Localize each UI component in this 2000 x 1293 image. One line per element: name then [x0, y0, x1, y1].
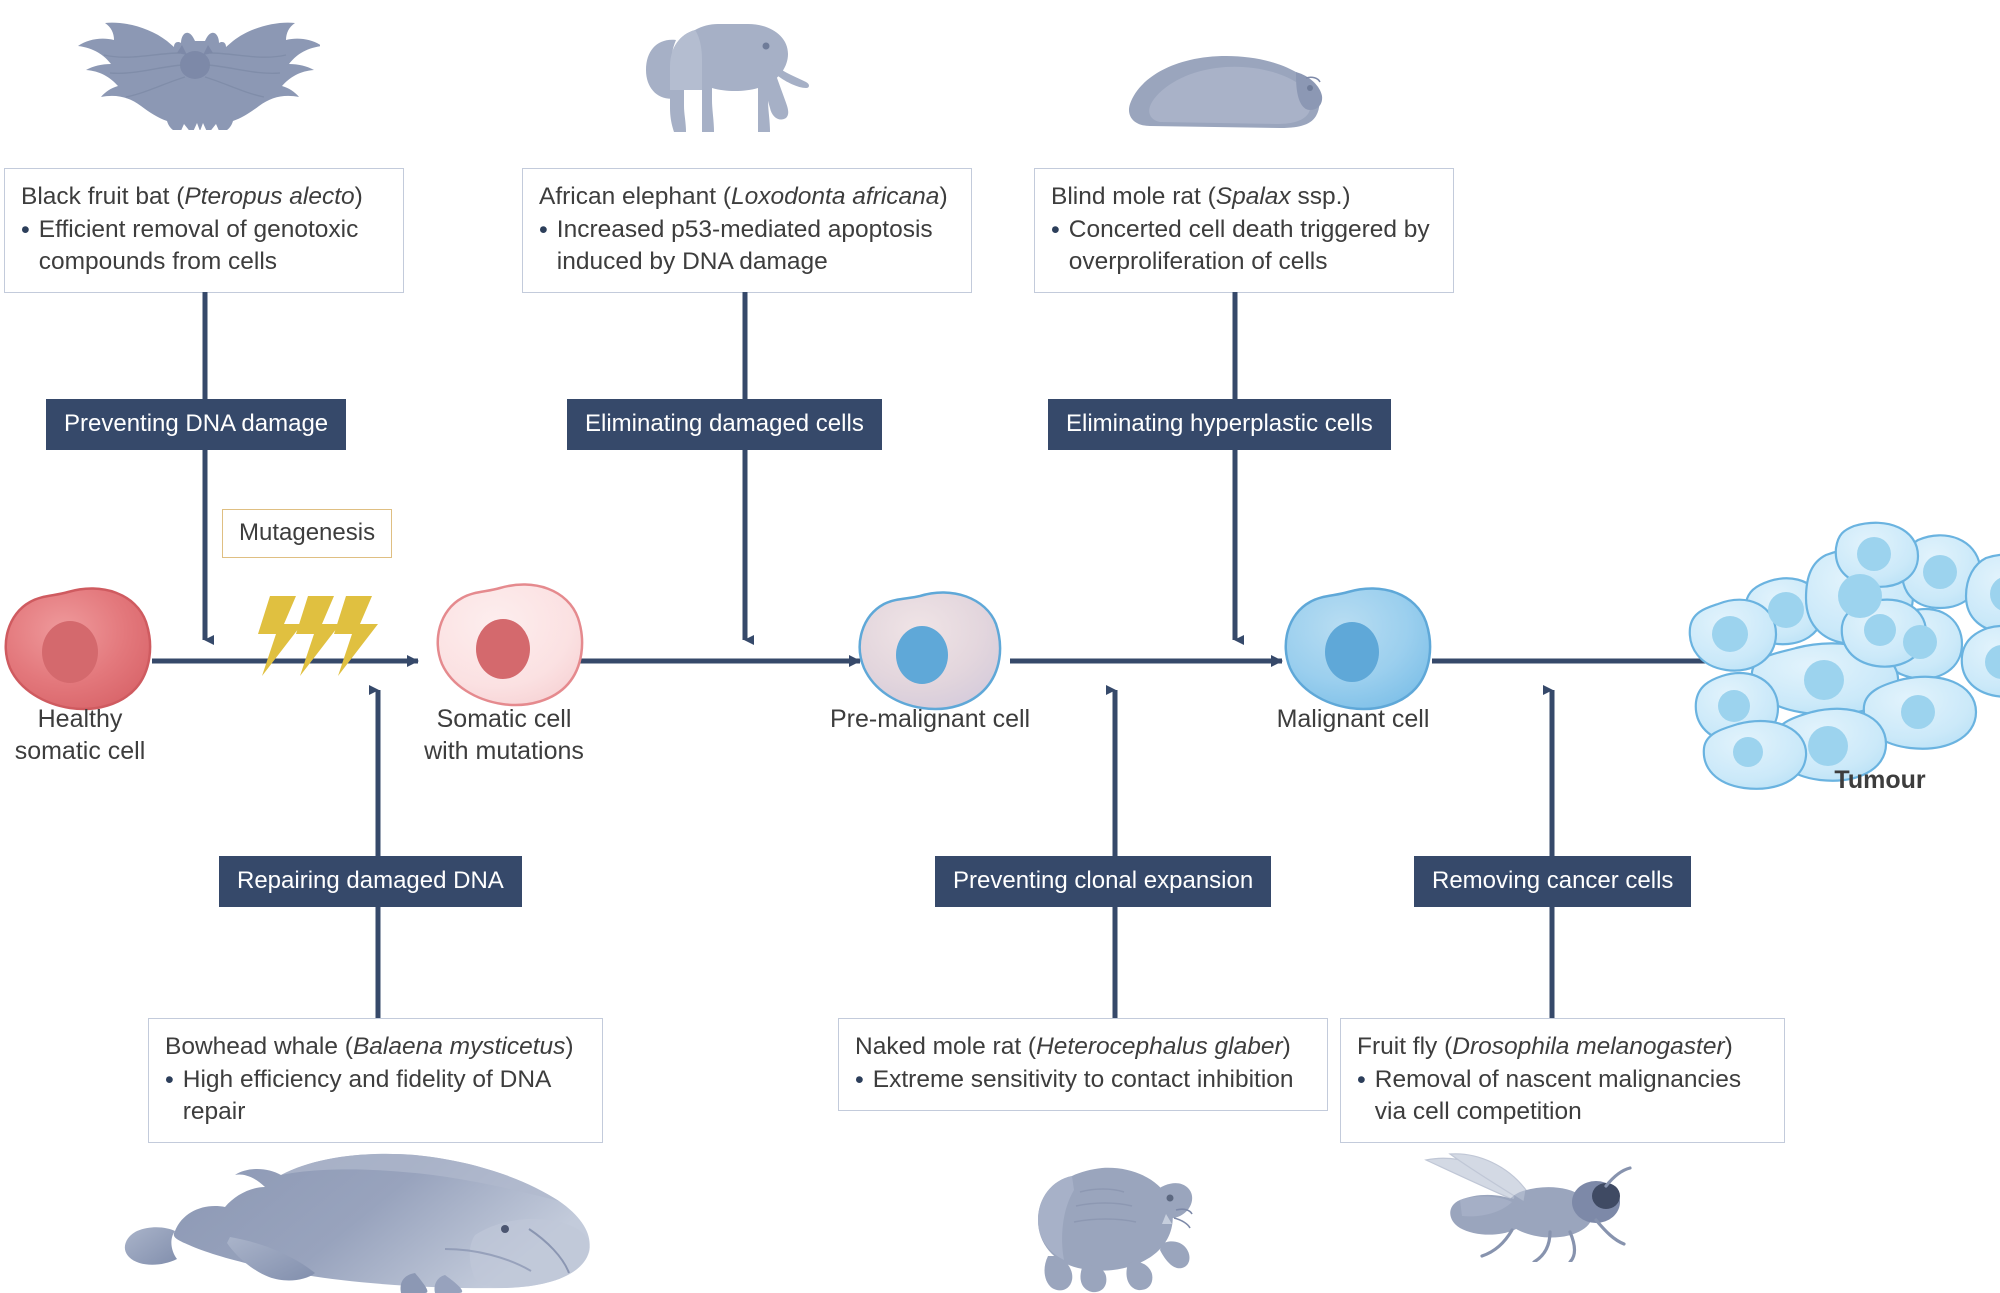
- bullet-dot-icon: •: [165, 1064, 174, 1128]
- bowhead-whale-illustration: [115, 1145, 615, 1293]
- process-label-removing-cancer-cells[interactable]: Removing cancer cells: [1414, 856, 1691, 907]
- lightning-bolts-icon: [258, 596, 378, 676]
- malignant-cell-illustration: [1286, 589, 1430, 710]
- naked-mole-rat-illustration: [1020, 1140, 1210, 1293]
- cell-caption-malignant-cell: Malignant cell: [1263, 704, 1443, 736]
- process-label-eliminating-damaged-cells[interactable]: Eliminating damaged cells: [567, 399, 882, 450]
- healthy-somatic-cell-illustration: [6, 589, 150, 710]
- process-label-eliminating-hyperplastic-cells[interactable]: Eliminating hyperplastic cells: [1048, 399, 1391, 450]
- cell-caption-somatic-cell-with-mutations: Somatic cell with mutations: [404, 704, 604, 767]
- species-info-box-fruit-fly: Fruit fly (Drosophila melanogaster) • Re…: [1340, 1018, 1785, 1143]
- pre-malignant-cell-illustration: [860, 592, 1000, 709]
- species-bullet: • Extreme sensitivity to contact inhibit…: [855, 1064, 1311, 1097]
- species-name: Bowhead whale (Balaena mysticetus): [165, 1031, 586, 1063]
- species-bullet: • High efficiency and fidelity of DNA re…: [165, 1064, 586, 1128]
- fruit-fly-illustration: [1400, 1152, 1640, 1262]
- species-name: Naked mole rat (Heterocephalus glaber): [855, 1031, 1311, 1063]
- process-label-repairing-damaged-dna[interactable]: Repairing damaged DNA: [219, 856, 522, 907]
- bullet-dot-icon: •: [855, 1064, 864, 1097]
- species-name: Fruit fly (Drosophila melanogaster): [1357, 1031, 1768, 1063]
- diagram-canvas: Black fruit bat (Pteropus alecto) • Effi…: [0, 0, 2000, 1293]
- cell-caption-pre-malignant-cell: Pre-malignant cell: [830, 704, 1020, 736]
- species-info-box-naked-mole-rat: Naked mole rat (Heterocephalus glaber) •…: [838, 1018, 1328, 1111]
- bullet-dot-icon: •: [1357, 1064, 1366, 1128]
- mutagenesis-label[interactable]: Mutagenesis: [222, 509, 392, 558]
- process-label-preventing-clonal-expansion[interactable]: Preventing clonal expansion: [935, 856, 1271, 907]
- somatic-cell-with-mutations-illustration: [438, 585, 582, 706]
- species-info-box-bowhead-whale: Bowhead whale (Balaena mysticetus) • Hig…: [148, 1018, 603, 1143]
- species-bullet: • Removal of nascent malignancies via ce…: [1357, 1064, 1768, 1128]
- cell-caption-healthy-somatic-cell: Healthy somatic cell: [0, 704, 190, 767]
- cell-caption-tumour: Tumour: [1800, 765, 1960, 797]
- process-label-preventing-dna-damage[interactable]: Preventing DNA damage: [46, 399, 346, 450]
